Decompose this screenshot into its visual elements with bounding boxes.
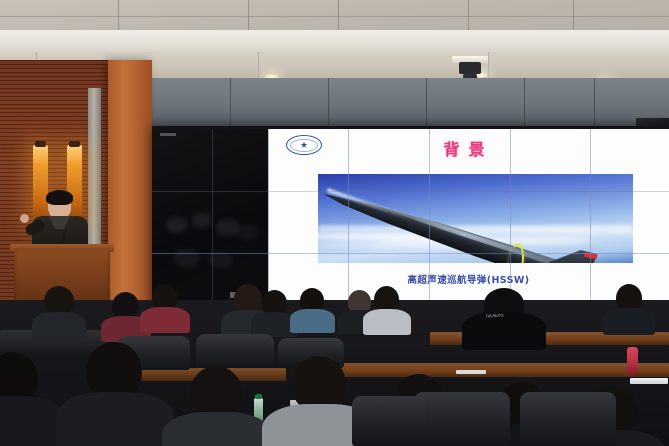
bottle-cap [255,394,262,399]
seat [520,392,616,446]
paper-sheet [456,370,486,374]
panel-brand-label [160,133,176,136]
presenter-hand [20,214,29,223]
upper-wall [150,78,669,126]
hypersonic-vehicle [318,174,608,263]
seat [414,392,510,446]
jacket-collar-text: ПАЛЬТО [486,313,504,319]
red-thermos [627,347,638,375]
ceiling-camera-icon [459,62,481,74]
book [630,378,668,384]
lecture-hall-photo: 背景 高超声速巡航导弹(HSS [0,0,669,446]
seat [352,396,426,446]
presentation-slide: 背景 高超声速巡航导弹(HSS [268,129,669,319]
ceiling-soffit [0,30,669,52]
presenter-hair [46,190,73,205]
led-video-wall[interactable]: 背景 高超声速巡航导弹(HSS [152,126,669,319]
presenter-figure [30,192,90,252]
missile-illustration [318,174,633,263]
slide-caption: 高超声速巡航导弹(HSSW) [268,272,669,286]
seat [196,334,274,368]
slide-title: 背景 [268,136,669,160]
